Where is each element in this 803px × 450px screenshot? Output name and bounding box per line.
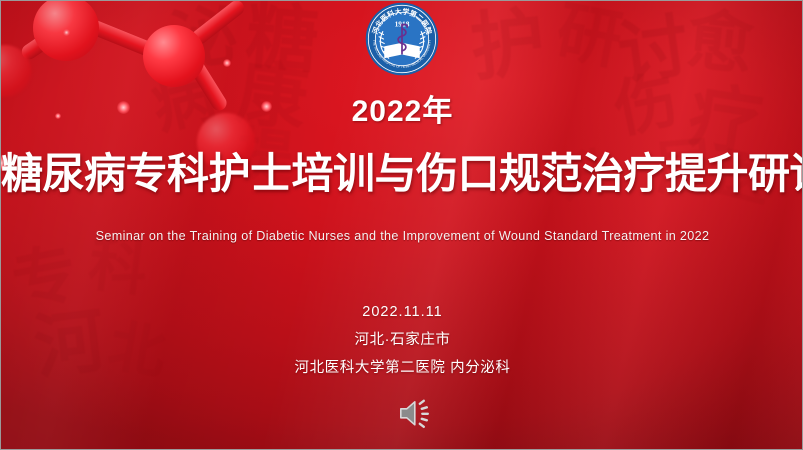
event-organizer: 河北医科大学第二医院 内分泌科 bbox=[1, 354, 803, 382]
speaker-audio-icon[interactable] bbox=[396, 397, 434, 429]
year-heading: 2022年 bbox=[1, 97, 803, 127]
page-title: 糖尿病专科护士培训与伤口规范治疗提升研讨班 bbox=[1, 153, 803, 195]
english-subtitle: Seminar on the Training of Diabetic Nurs… bbox=[1, 229, 803, 243]
presentation-slide: 泌糖病康护研讨愈伤疗尿医专科河北升提 河北医科大学第二医院 THE SECOND… bbox=[0, 0, 803, 450]
event-date: 2022.11.11 bbox=[1, 298, 803, 326]
hospital-seal-icon: 河北医科大学第二医院 THE SECOND HOSPITAL OF HEBEI … bbox=[362, 2, 442, 76]
hospital-seal-logo: 河北医科大学第二医院 THE SECOND HOSPITAL OF HEBEI … bbox=[362, 2, 442, 76]
event-location: 河北·石家庄市 bbox=[1, 326, 803, 354]
event-meta-block: 2022.11.11 河北·石家庄市 河北医科大学第二医院 内分泌科 bbox=[1, 298, 803, 382]
speaker-audio-glyph bbox=[396, 397, 434, 429]
